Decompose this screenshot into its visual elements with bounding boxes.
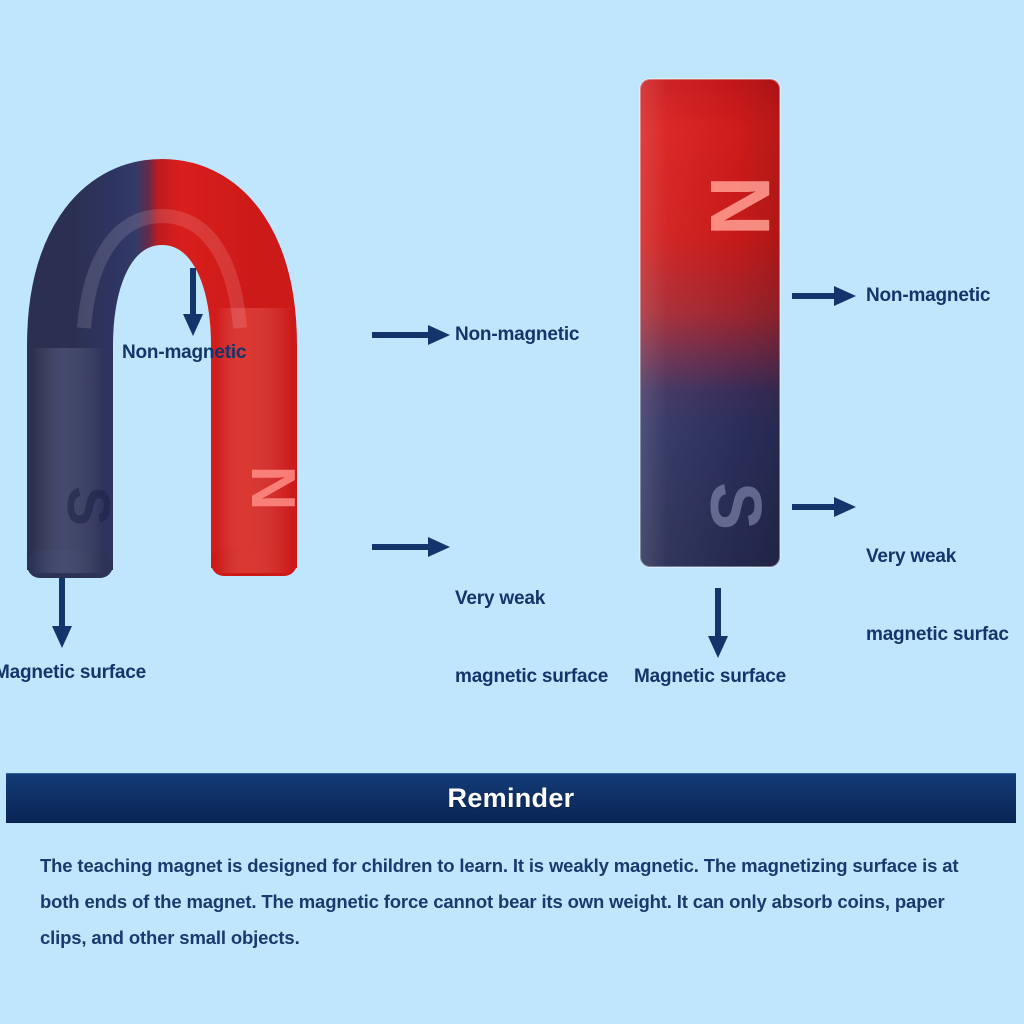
arrow-right-bar-nonmagnetic: [792, 285, 858, 307]
label-bar-very-weak-line2: magnetic surfac: [866, 622, 1009, 648]
reminder-body-text: The teaching magnet is designed for chil…: [40, 848, 980, 956]
svg-text:S: S: [55, 486, 122, 526]
svg-text:N: N: [238, 466, 307, 511]
svg-text:S: S: [695, 482, 775, 530]
reminder-banner: Reminder: [6, 773, 1016, 823]
label-bar-very-weak-line1: Very weak: [866, 544, 1009, 570]
reminder-title: Reminder: [448, 783, 575, 814]
label-horseshoe-very-weak-line2: magnetic surface: [455, 664, 608, 690]
svg-text:N: N: [693, 176, 783, 237]
arrow-right-horseshoe-very-weak: [372, 536, 452, 558]
label-bar-very-weak: Very weak magnetic surfac: [866, 492, 1009, 700]
arrow-right-bar-very-weak: [792, 496, 858, 518]
label-horseshoe-nonmagnetic-right: Non-magnetic: [455, 322, 579, 348]
label-horseshoe-very-weak: Very weak magnetic surface: [455, 534, 608, 742]
magnet-diagram: S N: [0, 0, 1024, 764]
horseshoe-magnet: S N: [12, 158, 374, 578]
label-horseshoe-nonmagnetic-top: Non-magnetic: [122, 340, 246, 366]
arrow-down-bar-magnetic-surface: [707, 588, 729, 660]
label-horseshoe-very-weak-line1: Very weak: [455, 586, 608, 612]
label-bar-magnetic-surface: Magnetic surface: [634, 664, 786, 690]
label-horseshoe-magnetic-surface: Magnetic surface: [0, 660, 146, 686]
arrow-down-horseshoe-magnetic-surface: [51, 578, 73, 650]
arrow-right-horseshoe-nonmagnetic: [372, 324, 452, 346]
product-infographic: S N: [0, 0, 1024, 1024]
label-bar-nonmagnetic: Non-magnetic: [866, 283, 990, 309]
arrow-down-horseshoe-nonmagnetic: [182, 268, 204, 338]
bar-magnet: N S: [637, 76, 783, 570]
